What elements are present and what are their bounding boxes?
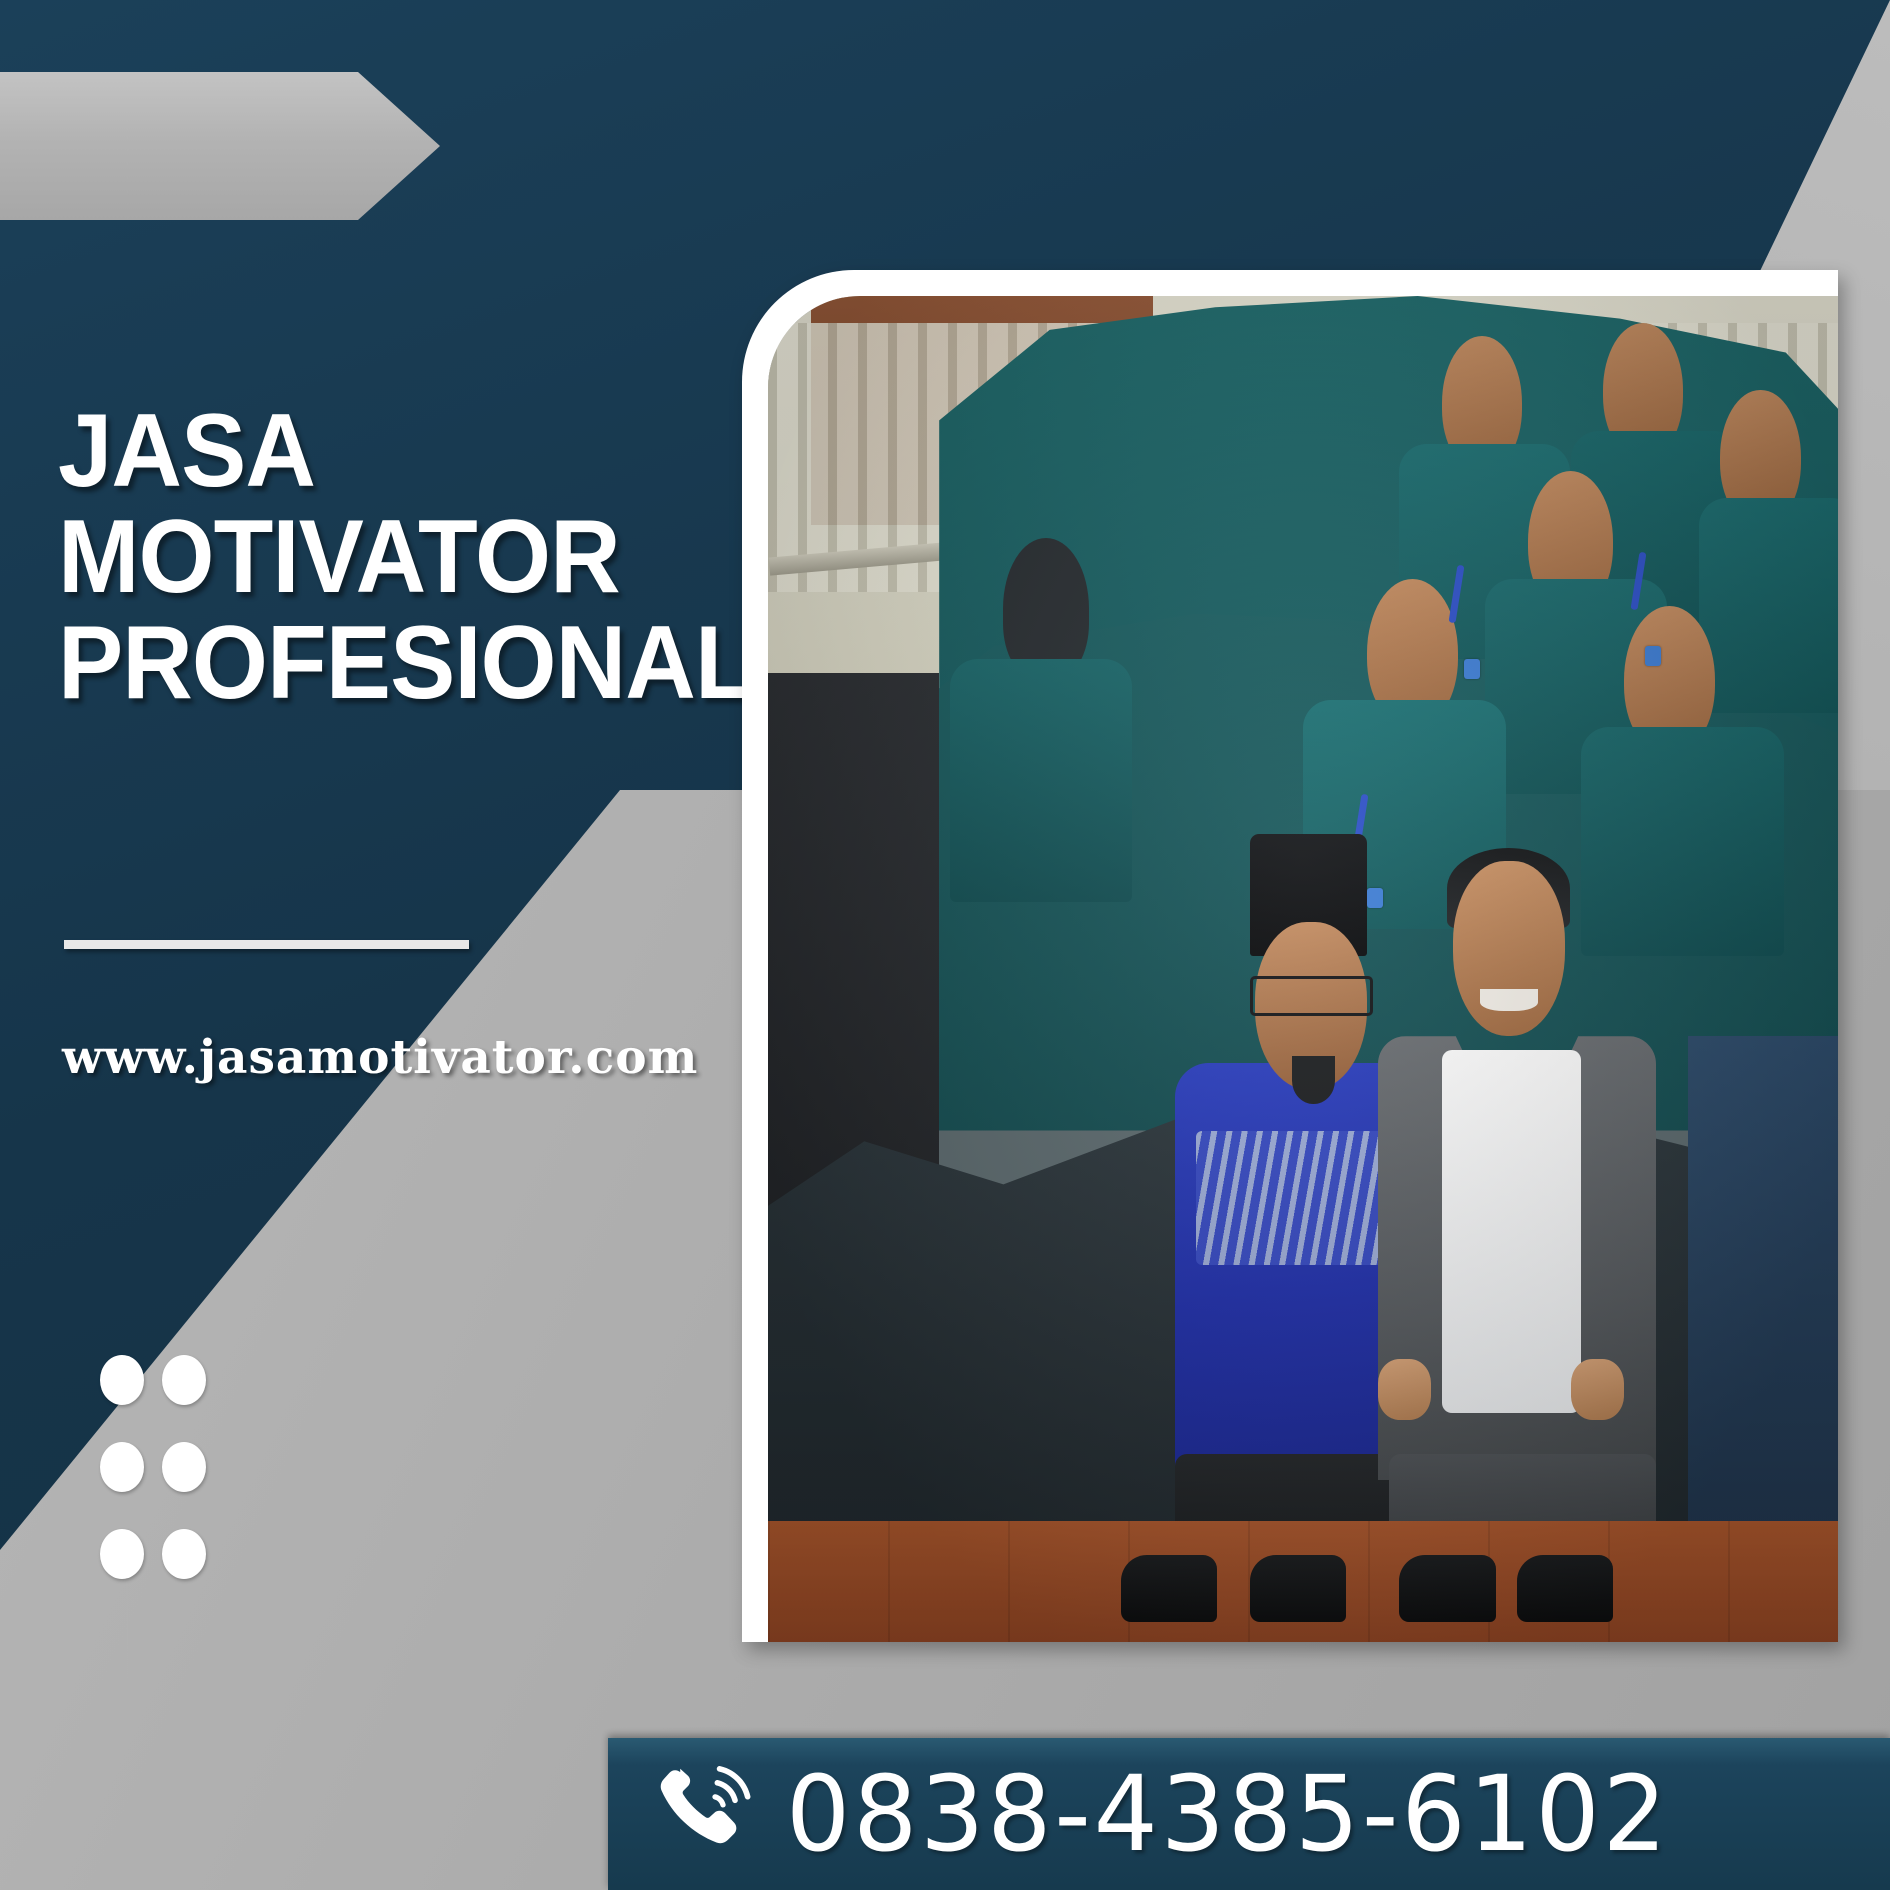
arrow-banner-shape: [0, 72, 440, 220]
dot-grid-decoration: [100, 1355, 224, 1616]
decor-dot: [162, 1442, 206, 1492]
foreground-beard: [1292, 1056, 1335, 1103]
website-url[interactable]: www.jasamotivator.com: [62, 1030, 698, 1085]
poster-canvas: JASA MOTIVATOR PROFESIONAL www.jasamotiv…: [0, 0, 1890, 1890]
foreground-smile: [1480, 989, 1539, 1011]
decor-dot: [162, 1529, 206, 1579]
scene-shoe: [1399, 1555, 1495, 1622]
contact-bar[interactable]: 0838-4385-6102: [608, 1738, 1890, 1890]
scene-person-uniform: [1581, 727, 1784, 956]
foreground-eyeglasses: [1250, 976, 1373, 1016]
photo-scene: [768, 296, 1838, 1642]
decor-dot: [100, 1355, 144, 1405]
scene-person-head-hijab: [1003, 538, 1089, 679]
headline-line-3: PROFESIONAL: [58, 610, 716, 716]
foreground-hand: [1571, 1359, 1625, 1420]
scene-person-uniform: [1699, 498, 1838, 713]
scene-shoe: [1250, 1555, 1346, 1622]
foreground-hand: [1378, 1359, 1432, 1420]
scene-id-badge: [1464, 659, 1480, 679]
page-title: JASA MOTIVATOR PROFESIONAL: [58, 398, 716, 716]
headline-line-2: MOTIVATOR: [58, 504, 716, 610]
title-divider: [64, 940, 469, 949]
scene-shoe: [1517, 1555, 1613, 1622]
decor-dot: [100, 1529, 144, 1579]
phone-ringing-icon: [650, 1760, 758, 1868]
scene-id-badge: [1645, 646, 1661, 666]
decor-dot: [162, 1355, 206, 1405]
decor-dot: [100, 1442, 144, 1492]
event-photo: [768, 296, 1838, 1642]
scene-id-badge: [1367, 888, 1383, 908]
scene-shoe: [1121, 1555, 1217, 1622]
headline-line-1: JASA: [58, 398, 716, 504]
phone-number[interactable]: 0838-4385-6102: [786, 1753, 1670, 1875]
photo-frame: [742, 270, 1838, 1642]
scene-person-uniform: [950, 659, 1132, 901]
foreground-white-shirt: [1442, 1050, 1581, 1413]
